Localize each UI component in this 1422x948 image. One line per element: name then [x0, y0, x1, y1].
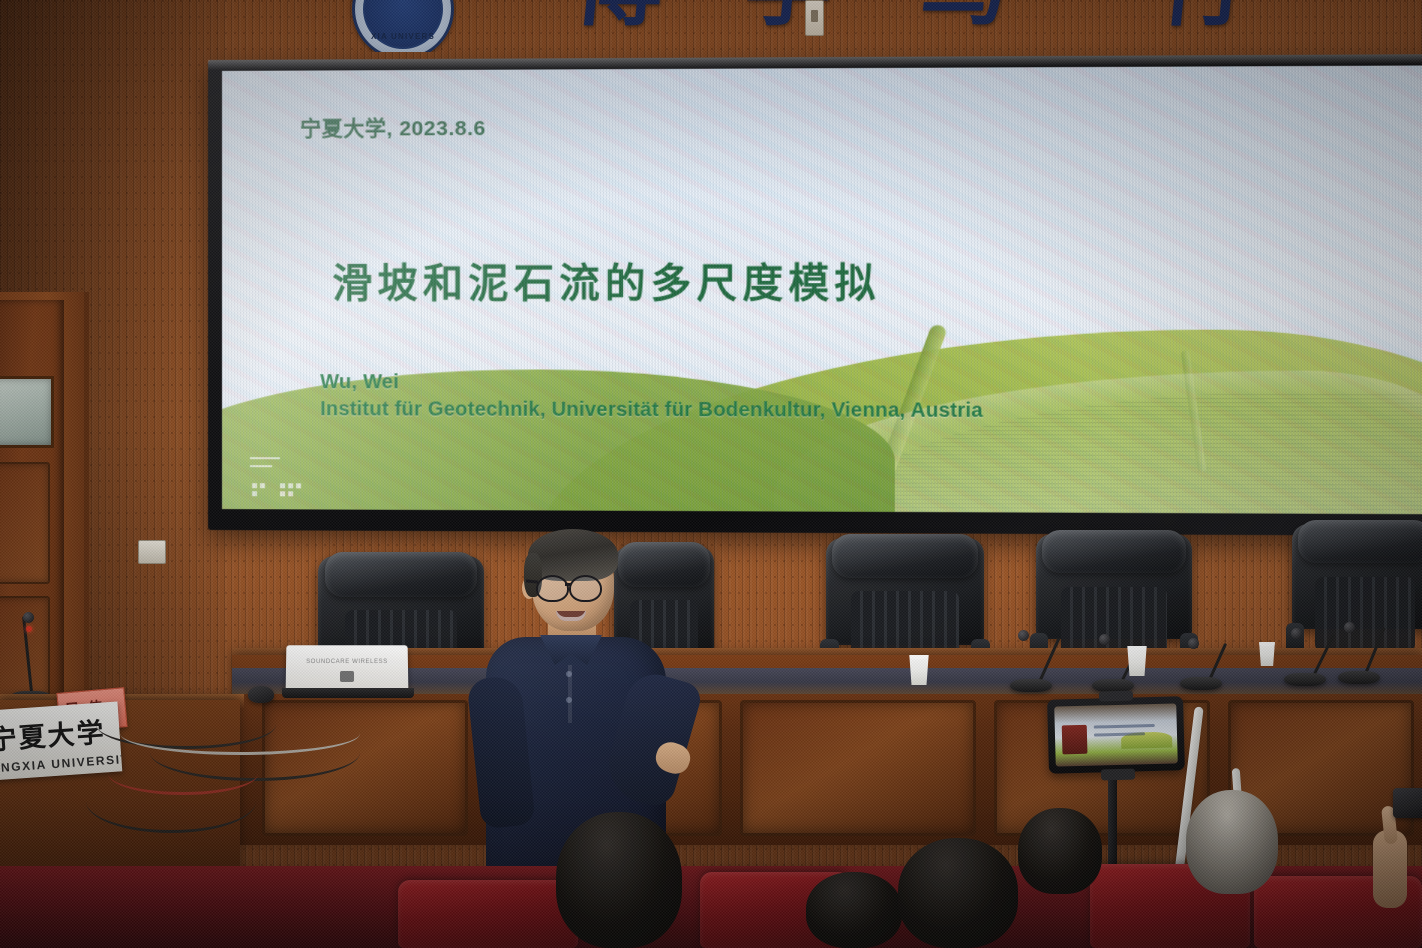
lecture-hall-scene: XIA UNIVERS 博 学 笃 行: [0, 0, 1422, 948]
vignette: [0, 0, 1422, 948]
